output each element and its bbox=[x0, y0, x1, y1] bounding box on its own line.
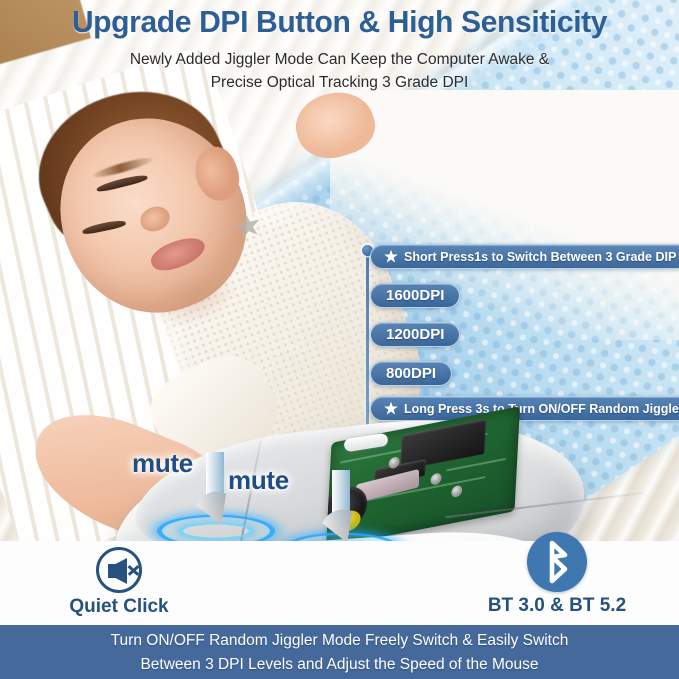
callout-dpi-1200-label: 1200DPI bbox=[386, 326, 444, 343]
callout-short-press: Short Press1s to Switch Between 3 Grade … bbox=[370, 244, 679, 269]
feature-quiet-click: Quiet Click bbox=[14, 547, 224, 618]
subtitle-line-2: Precise Optical Tracking 3 Grade DPI bbox=[0, 71, 679, 94]
bluetooth-glyph bbox=[527, 532, 587, 592]
pcb-capacitor bbox=[451, 485, 462, 498]
feature-bluetooth: BT 3.0 & BT 5.2 bbox=[452, 532, 662, 617]
star-icon bbox=[384, 250, 398, 264]
right-click-press-arrow-icon bbox=[321, 470, 361, 544]
mute-speaker-icon bbox=[96, 547, 142, 593]
bluetooth-icon bbox=[527, 532, 587, 592]
callout-dpi-1600-label: 1600DPI bbox=[386, 287, 444, 304]
callout-long-press-label: Long Press 3s to Turn ON/OFF Random Jigg… bbox=[404, 402, 679, 416]
arrow-shaft bbox=[332, 470, 350, 514]
banner-line-1: Turn ON/OFF Random Jiggler Mode Freely S… bbox=[0, 629, 679, 653]
page-subtitle: Newly Added Jiggler Mode Can Keep the Co… bbox=[0, 48, 679, 94]
mute-label-right: mute bbox=[228, 465, 289, 496]
banner-line-2: Between 3 DPI Levels and Adjust the Spee… bbox=[0, 653, 679, 677]
mute-label-left: mute bbox=[132, 448, 193, 479]
product-infographic: Upgrade DPI Button & High Sensiticity Ne… bbox=[0, 0, 679, 679]
speaker-cone bbox=[116, 558, 127, 584]
feature-bluetooth-label: BT 3.0 & BT 5.2 bbox=[452, 595, 662, 617]
arrow-shaft bbox=[206, 452, 224, 496]
callout-stack: Short Press1s to Switch Between 3 Grade … bbox=[360, 244, 679, 429]
page-title: Upgrade DPI Button & High Sensiticity bbox=[10, 4, 669, 40]
pcb-trace bbox=[447, 458, 506, 472]
callout-dpi-1600: 1600DPI bbox=[370, 283, 460, 308]
subtitle-line-1: Newly Added Jiggler Mode Can Keep the Co… bbox=[0, 48, 679, 71]
callout-dpi-800: 800DPI bbox=[370, 361, 452, 386]
baby-hand bbox=[288, 83, 382, 168]
callout-short-press-label: Short Press1s to Switch Between 3 Grade … bbox=[404, 250, 676, 264]
callout-dpi-800-label: 800DPI bbox=[386, 365, 436, 382]
bottom-banner: Turn ON/OFF Random Jiggler Mode Freely S… bbox=[0, 625, 679, 679]
star-icon bbox=[384, 402, 398, 416]
callout-dpi-1200: 1200DPI bbox=[370, 322, 460, 347]
feature-quiet-click-label: Quiet Click bbox=[14, 596, 224, 618]
